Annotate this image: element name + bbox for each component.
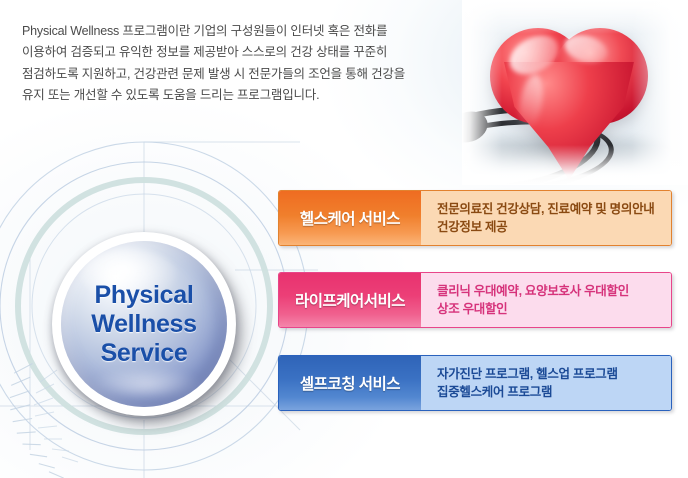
- service-desc-line-1: 클리닉 우대예약, 요양보호사 우대할인: [437, 282, 671, 301]
- sphere-title-line-3: Service: [101, 339, 188, 368]
- service-item-healthcare[interactable]: 헬스케어 서비스 전문의료진 건강상담, 진료예약 및 명의안내 건강정보 제공: [278, 190, 672, 246]
- service-description-healthcare: 전문의료진 건강상담, 진료예약 및 명의안내 건강정보 제공: [421, 191, 671, 245]
- service-desc-line-1: 전문의료진 건강상담, 진료예약 및 명의안내: [437, 200, 671, 219]
- service-tag-selfcoaching: 셀프코칭 서비스: [279, 356, 421, 410]
- service-description-lifecare: 클리닉 우대예약, 요양보호사 우대할인 상조 우대할인: [421, 273, 671, 327]
- central-sphere: Physical Wellness Service: [52, 232, 236, 416]
- service-item-lifecare[interactable]: 라이프케어서비스 클리닉 우대예약, 요양보호사 우대할인 상조 우대할인: [278, 272, 672, 328]
- sphere-title-line-2: Wellness: [91, 310, 197, 339]
- service-desc-line-2: 건강정보 제공: [437, 218, 671, 237]
- infographic-canvas: Physical Wellness 프로그램이란 기업의 구성원들이 인터넷 혹…: [0, 0, 688, 478]
- service-tag-healthcare: 헬스케어 서비스: [279, 191, 421, 245]
- service-tag-lifecare: 라이프케어서비스: [279, 273, 421, 327]
- service-desc-line-2: 상조 우대할인: [437, 300, 671, 319]
- service-description-selfcoaching: 자가진단 프로그램, 헬스업 프로그램 집중헬스케어 프로그램: [421, 356, 671, 410]
- heart-stethoscope-image: [462, 0, 688, 185]
- sphere-title: Physical Wellness Service: [52, 232, 236, 416]
- photo-fade-bottom: [462, 145, 688, 185]
- intro-paragraph: Physical Wellness 프로그램이란 기업의 구성원들이 인터넷 혹…: [22, 21, 432, 107]
- service-desc-line-1: 자가진단 프로그램, 헬스업 프로그램: [437, 365, 671, 384]
- sphere-title-line-1: Physical: [94, 281, 193, 310]
- service-item-selfcoaching[interactable]: 셀프코칭 서비스 자가진단 프로그램, 헬스업 프로그램 집중헬스케어 프로그램: [278, 355, 672, 411]
- service-desc-line-2: 집중헬스케어 프로그램: [437, 383, 671, 402]
